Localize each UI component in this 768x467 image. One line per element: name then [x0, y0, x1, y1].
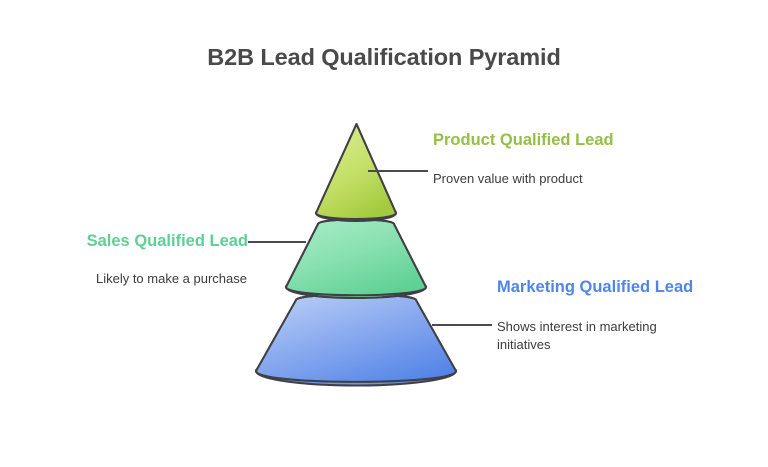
callout-marketing-qualified-lead: Marketing Qualified Lead Shows interest … — [497, 277, 702, 353]
diagram-canvas: B2B Lead Qualification Pyramid — [0, 0, 768, 467]
callout-marketing-description: Shows interest in marketing initiatives — [497, 318, 702, 354]
pyramid-segment-product[interactable] — [316, 124, 396, 221]
sales-frustum-body — [286, 220, 426, 296]
pyramid-segment-sales[interactable] — [286, 220, 426, 299]
callout-product-title: Product Qualified Lead — [433, 130, 623, 152]
callout-product-description: Proven value with product — [433, 170, 623, 188]
callout-sales-title: Sales Qualified Lead — [8, 231, 248, 253]
callout-marketing-title: Marketing Qualified Lead — [497, 277, 702, 299]
callout-product-qualified-lead: Product Qualified Lead Proven value with… — [433, 130, 623, 188]
pyramid-segment-marketing[interactable] — [256, 294, 456, 385]
callout-sales-description: Likely to make a purchase — [8, 270, 248, 288]
marketing-frustum-body — [256, 294, 456, 382]
callout-sales-qualified-lead: Sales Qualified Lead Likely to make a pu… — [8, 231, 248, 288]
